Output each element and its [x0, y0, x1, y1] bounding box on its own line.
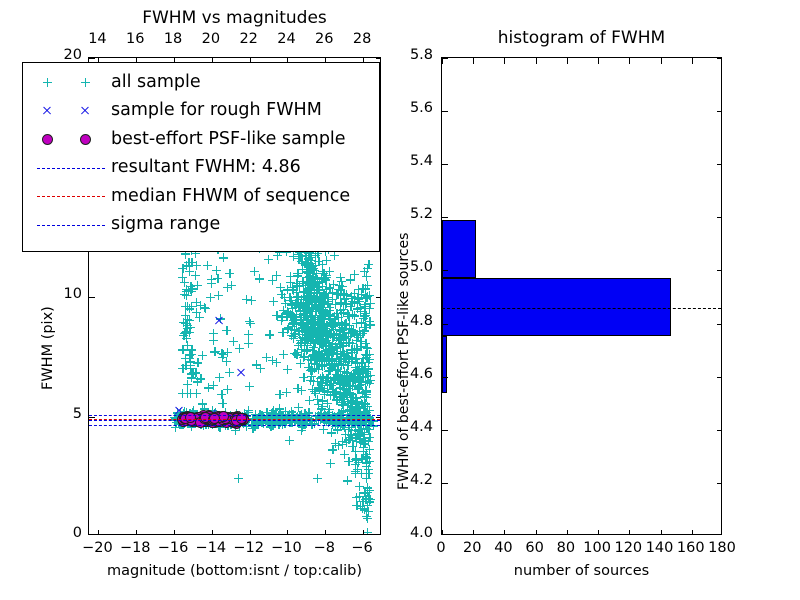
- scatter-point-all-sample: [321, 276, 330, 285]
- scatter-point-all-sample: [282, 312, 291, 321]
- scatter-point-all-sample: [361, 309, 370, 318]
- scatter-point-all-sample: [264, 255, 273, 264]
- axis-tick: [174, 530, 175, 535]
- scatter-point-all-sample: [305, 279, 314, 288]
- scatter-point-all-sample: [350, 298, 359, 307]
- scatter-point-all-sample: [305, 289, 314, 298]
- scatter-point-all-sample: [313, 293, 322, 302]
- scatter-point-all-sample: [343, 389, 352, 398]
- legend-line: [37, 168, 105, 169]
- scatter-point-all-sample: [324, 293, 333, 302]
- left-bottom-tick-label: −12: [232, 540, 266, 556]
- scatter-point-all-sample: [325, 380, 334, 389]
- scatter-point-all-sample: [322, 336, 331, 345]
- scatter-point-all-sample: [315, 318, 324, 327]
- scatter-point-all-sample: [267, 422, 276, 431]
- scatter-point-all-sample: [332, 354, 341, 363]
- scatter-point-all-sample: [324, 312, 333, 321]
- scatter-point-all-sample: [340, 295, 349, 304]
- scatter-point-all-sample: [298, 259, 307, 268]
- scatter-point-all-sample: [319, 289, 328, 298]
- scatter-point-all-sample: [351, 467, 360, 476]
- scatter-point-all-sample: [337, 398, 346, 407]
- legend-item-label: median FHWM of sequence: [111, 188, 350, 206]
- scatter-point-all-sample: [178, 345, 187, 354]
- scatter-point-all-sample: [311, 329, 320, 338]
- scatter-point-all-sample: [323, 299, 332, 308]
- scatter-point-all-sample: [304, 286, 313, 295]
- scatter-point-all-sample: [362, 343, 371, 352]
- scatter-point-all-sample: [361, 452, 370, 461]
- scatter-point-all-sample: [340, 372, 349, 381]
- scatter-point-all-sample: [317, 353, 326, 362]
- legend-symbol-dashed-line: [31, 183, 111, 209]
- scatter-point-all-sample: [334, 285, 343, 294]
- scatter-point-all-sample: [348, 398, 357, 407]
- scatter-point-all-sample: [304, 303, 313, 312]
- scatter-point-all-sample: [345, 325, 354, 334]
- scatter-point-rough-fwhm: [214, 316, 224, 326]
- scatter-point-all-sample: [353, 431, 362, 440]
- scatter-point-all-sample: [316, 351, 325, 360]
- scatter-point-all-sample: [184, 286, 193, 295]
- scatter-point-all-sample: [183, 321, 192, 330]
- scatter-point-all-sample: [185, 354, 194, 363]
- scatter-point-all-sample: [303, 260, 312, 269]
- scatter-point-all-sample: [285, 293, 294, 302]
- scatter-point-all-sample: [277, 290, 286, 299]
- scatter-point-all-sample: [344, 457, 353, 466]
- scatter-point-all-sample: [363, 281, 372, 290]
- scatter-point-all-sample: [329, 280, 338, 289]
- scatter-point-all-sample: [283, 325, 292, 334]
- scatter-point-all-sample: [313, 294, 322, 303]
- scatter-point-all-sample: [323, 349, 332, 358]
- scatter-point-all-sample: [278, 328, 287, 337]
- scatter-point-all-sample: [218, 353, 227, 362]
- scatter-point-all-sample: [332, 349, 341, 358]
- scatter-point-all-sample: [265, 420, 274, 429]
- scatter-point-all-sample: [335, 281, 344, 290]
- scatter-point-all-sample: [303, 316, 312, 325]
- scatter-point-all-sample: [306, 264, 315, 273]
- scatter-point-all-sample: [315, 286, 324, 295]
- scatter-point-all-sample: [185, 316, 194, 325]
- scatter-point-all-sample: [346, 390, 355, 399]
- axis-tick: [89, 58, 95, 59]
- scatter-point-all-sample: [193, 358, 202, 367]
- scatter-point-all-sample: [316, 339, 325, 348]
- scatter-point-all-sample: [315, 295, 324, 304]
- scatter-point-all-sample: [352, 366, 361, 375]
- scatter-point-all-sample: [351, 426, 360, 435]
- scatter-point-all-sample: [332, 344, 341, 353]
- axis-tick: [442, 324, 448, 325]
- scatter-point-all-sample: [286, 310, 295, 319]
- scatter-point-all-sample: [352, 319, 361, 328]
- scatter-point-all-sample: [180, 329, 189, 338]
- scatter-point-all-sample: [356, 342, 365, 351]
- scatter-point-all-sample: [365, 379, 374, 388]
- scatter-point-all-sample: [315, 385, 324, 394]
- scatter-point-all-sample: [342, 338, 351, 347]
- scatter-point-all-sample: [336, 335, 345, 344]
- scatter-point-all-sample: [296, 339, 305, 348]
- scatter-point-all-sample: [359, 314, 368, 323]
- scatter-point-all-sample: [353, 400, 362, 409]
- scatter-point-all-sample: [178, 273, 187, 282]
- scatter-point-all-sample: [341, 388, 350, 397]
- scatter-point-all-sample: [351, 354, 360, 363]
- scatter-point-all-sample: [319, 329, 328, 338]
- scatter-point-all-sample: [336, 389, 345, 398]
- scatter-point-all-sample: [294, 327, 303, 336]
- left-top-tick-label: 22: [236, 31, 262, 47]
- scatter-point-all-sample: [277, 313, 286, 322]
- scatter-point-all-sample: [319, 342, 328, 351]
- scatter-point-all-sample: [360, 488, 369, 497]
- scatter-point-all-sample: [362, 272, 371, 281]
- scatter-point-all-sample: [293, 292, 302, 301]
- scatter-point-all-sample: [365, 445, 374, 454]
- scatter-point-all-sample: [307, 372, 316, 381]
- scatter-point-all-sample: [299, 353, 308, 362]
- scatter-point-all-sample: [295, 302, 304, 311]
- scatter-point-all-sample: [355, 297, 364, 306]
- scatter-point-all-sample: [319, 300, 328, 309]
- scatter-point-all-sample: [346, 406, 355, 415]
- scatter-point-all-sample: [322, 256, 331, 265]
- scatter-point-all-sample: [313, 283, 322, 292]
- scatter-point-all-sample: [361, 387, 370, 396]
- scatter-point-all-sample: [268, 408, 277, 417]
- scatter-point-all-sample: [316, 306, 325, 315]
- scatter-point-all-sample: [354, 285, 363, 294]
- scatter-point-all-sample: [310, 355, 319, 364]
- scatter-point-all-sample: [286, 278, 295, 287]
- scatter-point-all-sample: [320, 273, 329, 282]
- scatter-point-all-sample: [359, 354, 368, 363]
- scatter-point-all-sample: [298, 277, 307, 286]
- scatter-point-all-sample: [293, 271, 302, 280]
- scatter-point-all-sample: [320, 386, 329, 395]
- scatter-point-all-sample: [195, 313, 204, 322]
- scatter-point-all-sample: [313, 278, 322, 287]
- scatter-point-all-sample: [178, 264, 187, 273]
- scatter-point-all-sample: [299, 373, 308, 382]
- scatter-point-all-sample: [269, 406, 278, 415]
- scatter-point-all-sample: [300, 420, 309, 429]
- scatter-point-all-sample: [343, 376, 352, 385]
- scatter-point-all-sample: [357, 454, 366, 463]
- scatter-point-all-sample: [244, 330, 253, 339]
- scatter-point-all-sample: [191, 368, 200, 377]
- scatter-point-all-sample: [308, 304, 317, 313]
- scatter-point-all-sample: [347, 371, 356, 380]
- figure-canvas: FWHM vs magnitudes 1416182022242628 −20−…: [0, 0, 800, 600]
- axis-tick: [250, 530, 251, 535]
- scatter-point-all-sample: [222, 357, 231, 366]
- scatter-point-all-sample: [321, 275, 330, 284]
- scatter-point-all-sample: [335, 393, 344, 402]
- scatter-point-all-sample: [306, 295, 315, 304]
- scatter-point-all-sample: [347, 325, 356, 334]
- scatter-point-all-sample: [316, 293, 325, 302]
- scatter-point-all-sample: [186, 282, 195, 291]
- scatter-point-all-sample: [256, 364, 265, 373]
- scatter-point-all-sample: [360, 312, 369, 321]
- scatter-point-all-sample: [209, 381, 218, 390]
- scatter-point-all-sample: [343, 310, 352, 319]
- scatter-point-all-sample: [351, 393, 360, 402]
- scatter-point-all-sample: [179, 331, 188, 340]
- scatter-point-all-sample: [314, 335, 323, 344]
- axis-tick: [598, 58, 599, 64]
- axis-tick: [442, 164, 448, 165]
- scatter-point-all-sample: [187, 350, 196, 359]
- scatter-point-all-sample: [272, 311, 281, 320]
- scatter-point-all-sample: [187, 287, 196, 296]
- scatter-point-all-sample: [351, 399, 360, 408]
- scatter-point-all-sample: [317, 404, 326, 413]
- scatter-point-all-sample: [365, 406, 374, 415]
- scatter-point-all-sample: [324, 367, 333, 376]
- scatter-point-all-sample: [235, 344, 244, 353]
- scatter-point-all-sample: [344, 435, 353, 444]
- scatter-point-all-sample: [361, 291, 370, 300]
- scatter-point-all-sample: [340, 390, 349, 399]
- scatter-point-all-sample: [304, 319, 313, 328]
- scatter-point-all-sample: [329, 320, 338, 329]
- scatter-point-all-sample: [354, 458, 363, 467]
- scatter-point-all-sample: [314, 304, 323, 313]
- scatter-point-all-sample: [276, 283, 285, 292]
- scatter-point-all-sample: [317, 330, 326, 339]
- scatter-point-all-sample: [353, 465, 362, 474]
- scatter-point-all-sample: [317, 314, 326, 323]
- scatter-point-all-sample: [299, 287, 308, 296]
- scatter-point-all-sample: [317, 303, 326, 312]
- scatter-point-all-sample: [360, 302, 369, 311]
- axis-tick: [717, 270, 722, 271]
- scatter-point-all-sample: [339, 332, 348, 341]
- scatter-point-all-sample: [350, 345, 359, 354]
- scatter-point-all-sample: [318, 260, 327, 269]
- scatter-point-all-sample: [344, 377, 353, 386]
- scatter-point-all-sample: [361, 408, 370, 417]
- scatter-point-all-sample: [325, 344, 334, 353]
- scatter-point-all-sample: [328, 289, 337, 298]
- scatter-point-all-sample: [355, 492, 364, 501]
- scatter-point-all-sample: [288, 310, 297, 319]
- scatter-point-all-sample: [299, 323, 308, 332]
- axis-tick: [717, 111, 722, 112]
- scatter-point-all-sample: [351, 447, 360, 456]
- scatter-point-all-sample: [309, 343, 318, 352]
- left-top-tick-label: 16: [122, 31, 148, 47]
- scatter-point-all-sample: [186, 389, 195, 398]
- scatter-point-all-sample: [311, 296, 320, 305]
- scatter-point-all-sample: [313, 377, 322, 386]
- scatter-point-all-sample: [344, 328, 353, 337]
- scatter-point-all-sample: [299, 292, 308, 301]
- scatter-point-all-sample: [326, 319, 335, 328]
- scatter-point-all-sample: [339, 290, 348, 299]
- scatter-point-all-sample: [319, 293, 328, 302]
- scatter-point-all-sample: [310, 364, 319, 373]
- scatter-point-all-sample: [317, 356, 326, 365]
- scatter-point-all-sample: [350, 311, 359, 320]
- axis-tick: [717, 483, 722, 484]
- scatter-point-all-sample: [182, 334, 191, 343]
- scatter-point-all-sample: [311, 326, 320, 335]
- scatter-point-all-sample: [354, 383, 363, 392]
- scatter-point-all-sample: [325, 366, 334, 375]
- scatter-point-all-sample: [356, 331, 365, 340]
- scatter-point-all-sample: [326, 345, 335, 354]
- scatter-point-all-sample: [290, 318, 299, 327]
- scatter-point-all-sample: [183, 389, 192, 398]
- scatter-point-all-sample: [182, 261, 191, 270]
- scatter-point-all-sample: [315, 336, 324, 345]
- scatter-point-all-sample: [311, 261, 320, 270]
- scatter-point-all-sample: [295, 282, 304, 291]
- scatter-point-all-sample: [336, 298, 345, 307]
- scatter-point-all-sample: [193, 377, 202, 386]
- scatter-point-all-sample: [183, 324, 192, 333]
- scatter-point-all-sample: [305, 285, 314, 294]
- scatter-point-all-sample: [331, 439, 340, 448]
- scatter-point-all-sample: [333, 374, 342, 383]
- scatter-point-all-sample: [357, 380, 366, 389]
- scatter-point-all-sample: [313, 315, 322, 324]
- scatter-point-all-sample: [363, 344, 372, 353]
- scatter-point-all-sample: [357, 362, 366, 371]
- scatter-point-all-sample: [339, 334, 348, 343]
- scatter-point-all-sample: [342, 386, 351, 395]
- scatter-point-all-sample: [288, 319, 297, 328]
- scatter-point-all-sample: [354, 377, 363, 386]
- scatter-point-all-sample: [331, 342, 340, 351]
- scatter-point-all-sample: [310, 319, 319, 328]
- scatter-point-all-sample: [362, 386, 371, 395]
- scatter-point-all-sample: [339, 375, 348, 384]
- left-bottom-tick-label: −18: [118, 540, 152, 556]
- scatter-point-all-sample: [358, 329, 367, 338]
- scatter-point-all-sample: [304, 296, 313, 305]
- scatter-point-all-sample: [324, 356, 333, 365]
- scatter-point-all-sample: [325, 267, 334, 276]
- scatter-point-all-sample: [342, 375, 351, 384]
- right-x-tick-label: 60: [521, 540, 549, 556]
- scatter-point-all-sample: [290, 325, 299, 334]
- scatter-point-all-sample: [296, 336, 305, 345]
- scatter-point-all-sample: [181, 361, 190, 370]
- scatter-point-all-sample: [330, 361, 339, 370]
- scatter-point-all-sample: [320, 361, 329, 370]
- scatter-point-all-sample: [324, 354, 333, 363]
- scatter-point-all-sample: [338, 437, 347, 446]
- scatter-point-all-sample: [305, 293, 314, 302]
- scatter-point-all-sample: [346, 275, 355, 284]
- scatter-point-all-sample: [310, 324, 319, 333]
- scatter-point-all-sample: [360, 400, 369, 409]
- scatter-point-all-sample: [363, 402, 372, 411]
- scatter-point-all-sample: [300, 336, 309, 345]
- axis-tick: [473, 58, 474, 64]
- scatter-point-all-sample: [318, 282, 327, 291]
- scatter-point-all-sample: [340, 320, 349, 329]
- scatter-point-all-sample: [265, 330, 274, 339]
- left-y-tick-label: 0: [52, 525, 82, 541]
- scatter-point-all-sample: [352, 454, 361, 463]
- legend-item: median FHWM of sequence: [23, 182, 379, 211]
- scatter-point-all-sample: [364, 437, 373, 446]
- scatter-point-all-sample: [355, 482, 364, 491]
- scatter-point-all-sample: [304, 335, 313, 344]
- scatter-point-all-sample: [187, 350, 196, 359]
- scatter-point-all-sample: [336, 306, 345, 315]
- scatter-point-all-sample: [362, 323, 371, 332]
- scatter-point-all-sample: [358, 400, 367, 409]
- right-plot-area: [441, 57, 722, 535]
- scatter-point-all-sample: [353, 331, 362, 340]
- scatter-point-all-sample: [210, 347, 219, 356]
- scatter-point-all-sample: [348, 382, 357, 391]
- scatter-point-all-sample: [344, 355, 353, 364]
- scatter-point-all-sample: [325, 310, 334, 319]
- scatter-point-all-sample: [317, 273, 326, 282]
- axis-tick: [89, 297, 95, 298]
- scatter-point-all-sample: [338, 282, 347, 291]
- scatter-point-all-sample: [337, 321, 346, 330]
- scatter-point-all-sample: [338, 379, 347, 388]
- scatter-point-all-sample: [361, 323, 370, 332]
- scatter-point-all-sample: [268, 276, 277, 285]
- legend-marker: [80, 134, 91, 145]
- scatter-point-all-sample: [340, 367, 349, 376]
- scatter-point-all-sample: [310, 325, 319, 334]
- scatter-point-all-sample: [352, 336, 361, 345]
- scatter-point-all-sample: [315, 360, 324, 369]
- scatter-point-all-sample: [341, 300, 350, 309]
- scatter-point-all-sample: [338, 347, 347, 356]
- scatter-point-all-sample: [328, 339, 337, 348]
- scatter-point-all-sample: [179, 318, 188, 327]
- scatter-point-all-sample: [341, 319, 350, 328]
- scatter-point-all-sample: [227, 281, 236, 290]
- scatter-point-all-sample: [302, 327, 311, 336]
- scatter-point-all-sample: [337, 318, 346, 327]
- scatter-point-all-sample: [315, 288, 324, 297]
- scatter-point-all-sample: [351, 359, 360, 368]
- scatter-point-all-sample: [353, 429, 362, 438]
- scatter-point-all-sample: [318, 372, 327, 381]
- right-y-tick-label: 5.8: [389, 47, 433, 63]
- scatter-point-all-sample: [348, 310, 357, 319]
- scatter-point-all-sample: [332, 389, 341, 398]
- scatter-point-all-sample: [314, 305, 323, 314]
- axis-tick: [442, 217, 448, 218]
- scatter-point-all-sample: [324, 408, 333, 417]
- scatter-point-all-sample: [351, 455, 360, 464]
- scatter-point-all-sample: [345, 388, 354, 397]
- scatter-point-all-sample: [193, 281, 202, 290]
- scatter-point-all-sample: [325, 306, 334, 315]
- scatter-point-all-sample: [290, 313, 299, 322]
- scatter-point-all-sample: [323, 332, 332, 341]
- legend-line: [37, 196, 105, 197]
